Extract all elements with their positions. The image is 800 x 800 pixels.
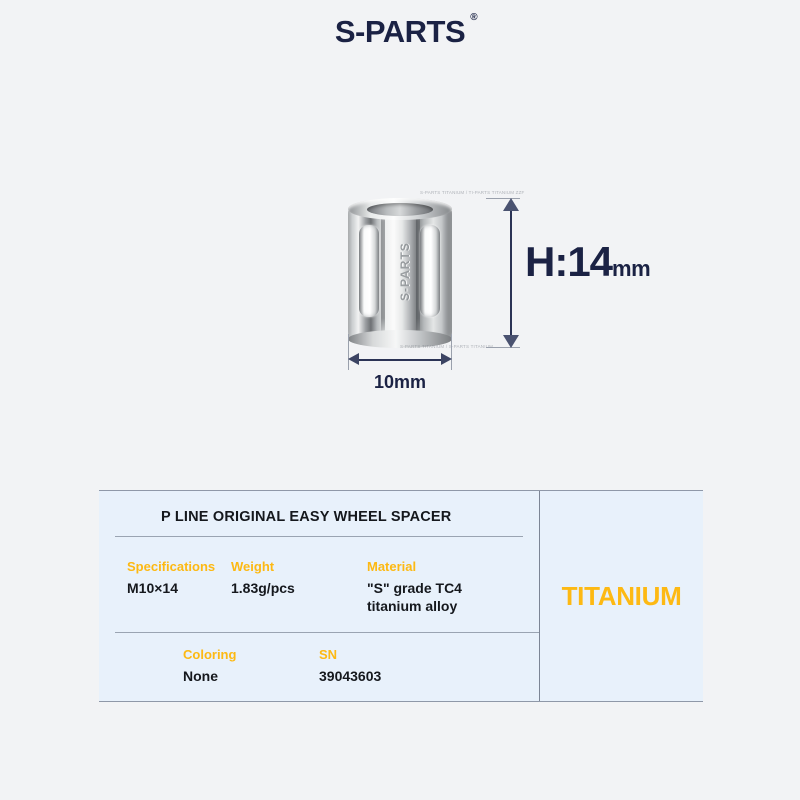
field-value: M10×14: [127, 579, 231, 597]
field-sn: SN 39043603: [319, 647, 469, 685]
registered-trademark-icon: ®: [470, 12, 477, 23]
height-unit: mm: [612, 256, 650, 281]
product-title: P LINE ORIGINAL EASY WHEEL SPACER: [99, 509, 539, 525]
spacer-slot-left: [359, 225, 379, 317]
arrow-left-icon: [348, 353, 359, 365]
field-material: Material "S" grade TC4 titanium alloy: [367, 559, 517, 616]
field-specifications: Specifications M10×14: [127, 559, 231, 616]
spacer-bore-hole: [367, 203, 433, 216]
spec-row: Coloring None SN 39043603: [99, 647, 539, 685]
title-divider: [115, 536, 523, 537]
width-label: 10mm: [348, 372, 452, 393]
specification-fields: P LINE ORIGINAL EASY WHEEL SPACER Specif…: [99, 491, 539, 701]
field-label: Coloring: [183, 647, 319, 662]
field-value: 1.83g/pcs: [231, 579, 367, 597]
watermark-bottom: S-PARTS TITANIUM / S-PARTS TITANIUM: [400, 344, 493, 349]
brand-header: S-PARTS ®: [0, 14, 800, 50]
spacer-reflection-band: [381, 206, 385, 338]
brand-logo-text: S-PARTS: [335, 14, 465, 49]
width-dimension-arrow: [348, 352, 452, 368]
field-value: None: [183, 667, 319, 685]
field-value: "S" grade TC4 titanium alloy: [367, 579, 517, 616]
dimension-line-vertical: [510, 207, 512, 339]
field-weight: Weight 1.83g/pcs: [231, 559, 367, 616]
field-label: Specifications: [127, 559, 231, 574]
brand-logo: S-PARTS ®: [335, 14, 465, 50]
field-label: SN: [319, 647, 469, 662]
field-coloring: Coloring None: [183, 647, 319, 685]
spec-row: Specifications M10×14 Weight 1.83g/pcs M…: [99, 559, 539, 616]
product-image: S-PARTS TITANIUM / TI-PARTS TITANIUM ZZF…: [300, 170, 700, 410]
height-value: 14: [567, 238, 612, 285]
watermark-top: S-PARTS TITANIUM / TI-PARTS TITANIUM ZZF: [420, 190, 525, 195]
arrow-right-icon: [441, 353, 452, 365]
arrow-up-icon: [503, 198, 519, 211]
arrow-down-icon: [503, 335, 519, 348]
height-prefix: H:: [525, 238, 567, 285]
height-label: H:14mm: [525, 238, 650, 286]
product-wheel-spacer: S-PARTS: [348, 198, 452, 348]
spacer-slot-right: [420, 225, 440, 317]
height-dimension-arrow: [502, 198, 520, 348]
field-label: Weight: [231, 559, 367, 574]
field-label: Material: [367, 559, 517, 574]
material-badge-panel: TITANIUM: [539, 491, 703, 701]
field-value: 39043603: [319, 667, 469, 685]
dimension-line-horizontal: [354, 359, 446, 361]
specification-table: P LINE ORIGINAL EASY WHEEL SPACER Specif…: [99, 490, 703, 702]
row-divider: [115, 632, 539, 633]
material-badge: TITANIUM: [562, 581, 682, 612]
